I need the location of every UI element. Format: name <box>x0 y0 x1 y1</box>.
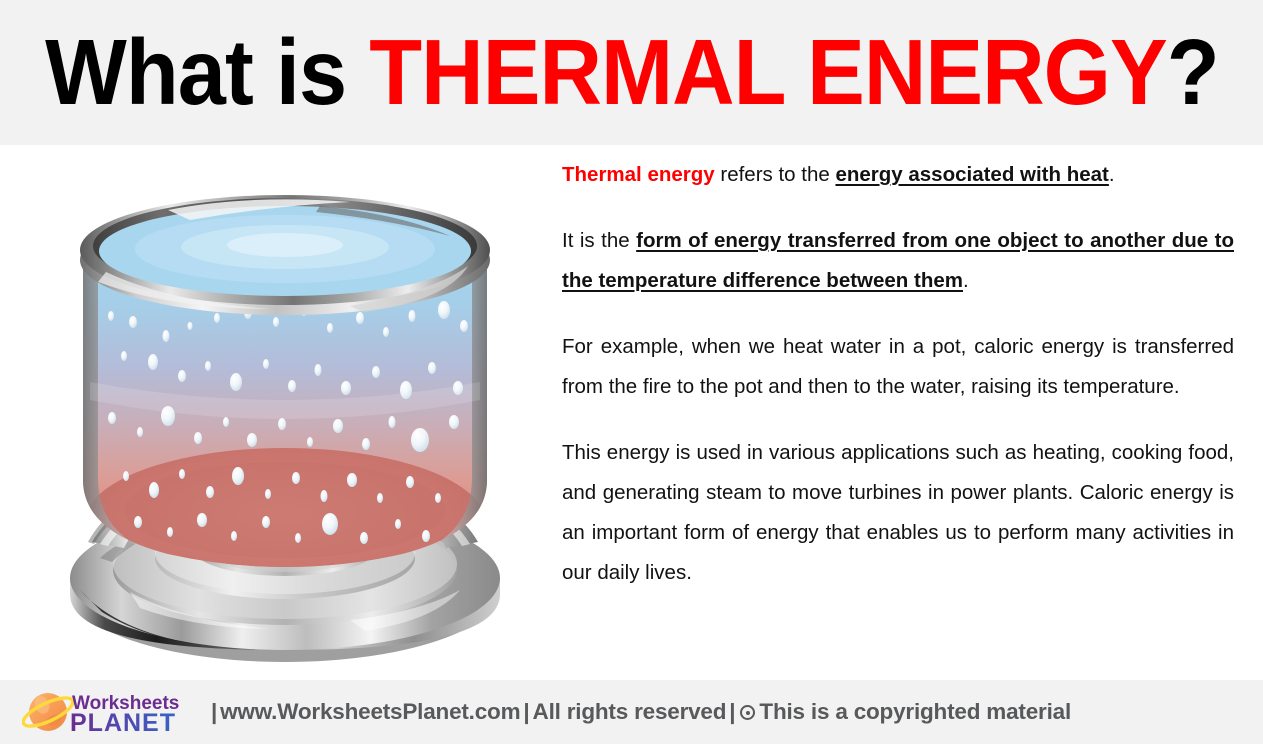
thermal-energy-illustration <box>20 150 550 670</box>
page-title: What is THERMAL ENERGY? <box>45 26 1219 119</box>
title-keyword: THERMAL ENERGY <box>369 20 1166 124</box>
paragraph-applications: This energy is used in various applicati… <box>562 433 1234 593</box>
paragraph-transfer: It is the form of energy transferred fro… <box>562 221 1234 301</box>
footer-divider-2: | <box>520 699 532 724</box>
infographic-page: What is THERMAL ENERGY? <box>0 0 1263 744</box>
cooking-pot <box>80 195 490 596</box>
boiling-pot-svg <box>20 150 550 670</box>
footer-divider-3: | <box>726 699 738 724</box>
footer-divider-1: | <box>208 699 220 724</box>
title-question-mark: ? <box>1166 20 1218 124</box>
footer-credit-line: |www.WorksheetsPlanet.com|All rights res… <box>208 699 1071 725</box>
paragraph1-tail: . <box>1109 163 1115 186</box>
content-area: Thermal energy refers to the energy asso… <box>0 145 1263 680</box>
paragraph2-tail: . <box>963 269 969 292</box>
paragraph1-emphasis: energy associated with heat <box>835 163 1108 186</box>
thermal-energy-term: Thermal energy <box>562 163 715 186</box>
logo-svg: Worksheets PLANET <box>22 687 194 737</box>
copyright-icon <box>740 705 755 720</box>
title-prefix: What is <box>45 20 369 124</box>
footer-website[interactable]: www.WorksheetsPlanet.com <box>220 699 520 724</box>
planet-icon <box>22 692 76 731</box>
paragraph-definition: Thermal energy refers to the energy asso… <box>562 155 1234 195</box>
pot-rim <box>80 195 490 315</box>
footer-bar: Worksheets PLANET |www.WorksheetsPlanet.… <box>0 680 1263 744</box>
footer-copyright-text: This is a copyrighted material <box>759 699 1071 724</box>
paragraph2-emphasis: form of energy transferred from one obje… <box>562 229 1234 292</box>
paragraph1-plain-mid: refers to the <box>715 163 836 186</box>
header-banner: What is THERMAL ENERGY? <box>0 0 1263 145</box>
description-text-column: Thermal energy refers to the energy asso… <box>562 155 1234 593</box>
paragraph-example: For example, when we heat water in a pot… <box>562 327 1234 407</box>
worksheets-planet-logo[interactable]: Worksheets PLANET <box>22 688 194 736</box>
logo-word-bottom: PLANET <box>70 709 176 737</box>
paragraph2-lead: It is the <box>562 229 636 252</box>
footer-rights: All rights reserved <box>533 699 727 724</box>
